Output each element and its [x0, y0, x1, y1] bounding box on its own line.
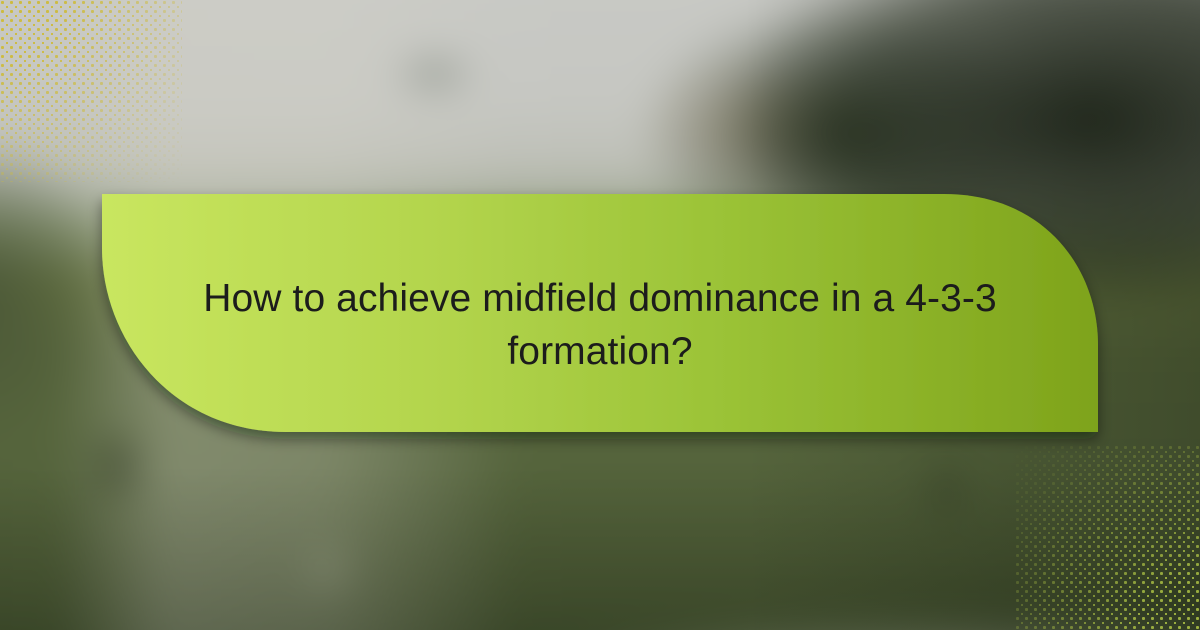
- background-photo: [0, 0, 1200, 630]
- share-card: How to achieve midfield dominance in a 4…: [0, 0, 1200, 630]
